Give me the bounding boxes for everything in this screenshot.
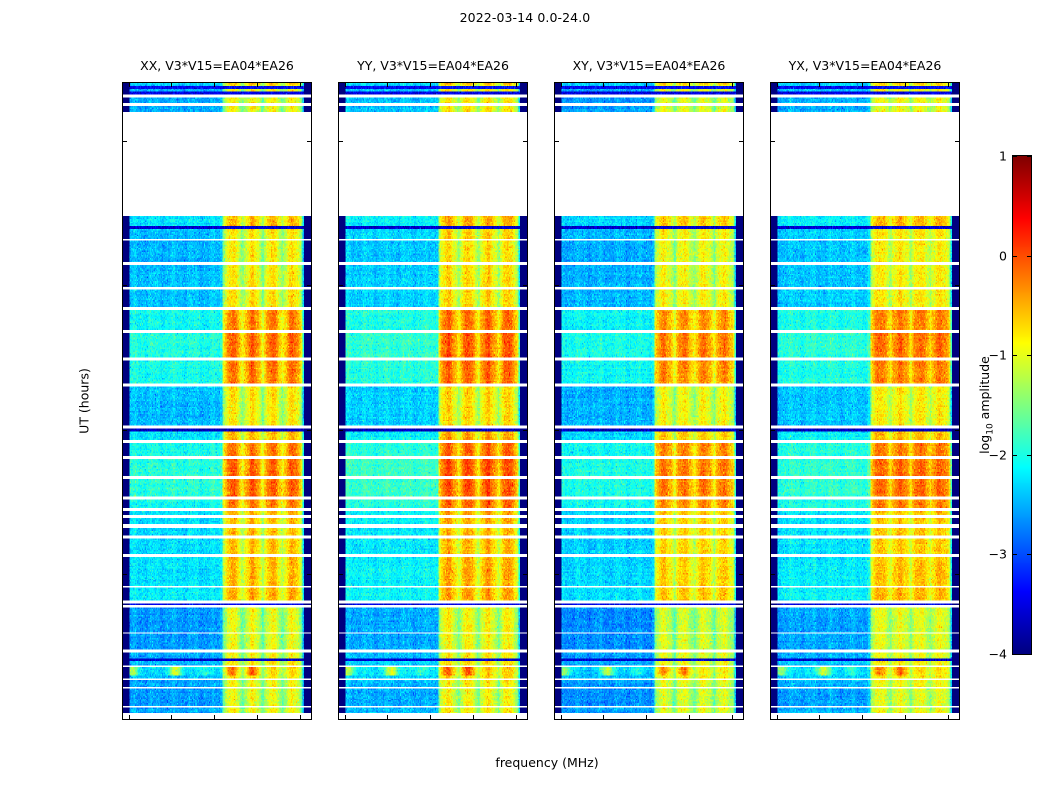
y-tick-mark [739,285,743,286]
y-tick-mark [955,285,959,286]
colorbar-label-subscript: 10 [985,423,995,434]
colorbar-tick-mark [1027,654,1031,655]
x-tick-mark [732,83,733,87]
y-tick-mark [955,141,959,142]
figure-suptitle: 2022-03-14 0.0-24.0 [0,10,1050,25]
y-tick-mark [555,719,559,720]
y-tick-mark [523,430,527,431]
colorbar-tick-label: 0 [999,248,1007,263]
y-tick-mark [339,719,343,720]
colorbar[interactable]: 10−1−2−3−4 [1012,155,1032,655]
x-tick-mark [300,715,301,719]
spectrogram-panel-yy[interactable]: YY, V3*V15=EA04*EA2605101520320335350365… [338,82,528,720]
y-tick-mark [307,719,311,720]
x-tick-mark [862,715,863,719]
x-tick-mark [473,715,474,719]
y-tick-mark [523,719,527,720]
x-tick-mark [561,715,562,719]
x-tick-mark [257,83,258,87]
y-axis-label: UT (hours) [77,368,92,434]
y-tick-mark [123,719,127,720]
x-tick-mark [473,83,474,87]
colorbar-tick-mark [1013,455,1017,456]
x-axis-label: frequency (MHz) [495,755,598,770]
spectrogram-panel-xx[interactable]: XX, V3*V15=EA04*EA2605101520320335350365… [122,82,312,720]
x-tick-mark [129,83,130,87]
y-tick-mark [739,430,743,431]
x-tick-mark [516,715,517,719]
y-tick-mark [123,574,127,575]
spectrogram-image-yx [771,83,959,719]
y-tick-mark [771,574,775,575]
x-tick-mark [387,83,388,87]
y-tick-mark [307,285,311,286]
x-tick-mark [345,715,346,719]
x-tick-mark [430,715,431,719]
colorbar-tick-mark [1027,455,1031,456]
x-tick-mark [561,83,562,87]
panel-title-xx: XX, V3*V15=EA04*EA26 [102,58,332,73]
y-tick-mark [739,719,743,720]
spectrogram-image-xx [123,83,311,719]
x-tick-mark [171,83,172,87]
panel-title-yy: YY, V3*V15=EA04*EA26 [318,58,548,73]
colorbar-tick-mark [1027,156,1031,157]
y-tick-mark [339,574,343,575]
colorbar-tick-mark [1013,654,1017,655]
panel-title-yx: YX, V3*V15=EA04*EA26 [750,58,980,73]
y-tick-mark [523,574,527,575]
spectrogram-panel-xy[interactable]: XY, V3*V15=EA04*EA2605101520320335350365… [554,82,744,720]
x-tick-mark [777,715,778,719]
y-tick-mark [555,285,559,286]
panel-axes-yx: 05101520320335350365380 [770,82,960,720]
y-tick-mark [771,141,775,142]
spectrogram-panel-yx[interactable]: YX, V3*V15=EA04*EA2605101520320335350365… [770,82,960,720]
y-tick-mark [123,141,127,142]
y-tick-mark [739,574,743,575]
y-tick-mark [307,430,311,431]
colorbar-tick-mark [1013,355,1017,356]
colorbar-tick-label: −4 [989,647,1007,662]
x-tick-mark [300,83,301,87]
y-tick-mark [771,430,775,431]
panel-axes-xx: 05101520320335350365380 [122,82,312,720]
colorbar-tick-mark [1013,256,1017,257]
y-tick-mark [523,141,527,142]
x-tick-mark [689,83,690,87]
colorbar-tick-mark [1013,156,1017,157]
panel-axes-xy: 05101520320335350365380 [554,82,744,720]
colorbar-tick-label: −3 [989,547,1007,562]
panel-axes-yy: 05101520320335350365380 [338,82,528,720]
x-tick-mark [646,715,647,719]
x-tick-mark [214,715,215,719]
y-tick-mark [339,285,343,286]
x-tick-mark [214,83,215,87]
figure-canvas: 2022-03-14 0.0-24.0 XX, V3*V15=EA04*EA26… [0,0,1050,800]
panel-title-xy: XY, V3*V15=EA04*EA26 [534,58,764,73]
x-tick-mark [603,715,604,719]
colorbar-label: log10 amplitude [977,356,996,454]
y-tick-mark [523,285,527,286]
y-tick-mark [555,574,559,575]
y-tick-mark [955,719,959,720]
x-tick-mark [862,83,863,87]
colorbar-label-main: amplitude [977,356,992,419]
y-tick-mark [555,430,559,431]
colorbar-tick-mark [1027,256,1031,257]
x-tick-mark [948,83,949,87]
y-tick-mark [123,285,127,286]
x-tick-mark [777,83,778,87]
x-tick-mark [171,715,172,719]
colorbar-label-prefix: log [977,435,992,454]
x-tick-mark [689,715,690,719]
x-tick-mark [819,83,820,87]
x-tick-mark [905,83,906,87]
y-tick-mark [339,141,343,142]
y-tick-mark [307,574,311,575]
y-tick-mark [339,430,343,431]
colorbar-tick-mark [1027,355,1031,356]
x-tick-mark [257,715,258,719]
colorbar-tick-mark [1013,554,1017,555]
x-tick-mark [430,83,431,87]
x-tick-mark [129,715,130,719]
x-tick-mark [819,715,820,719]
x-tick-mark [646,83,647,87]
y-tick-mark [123,430,127,431]
colorbar-tick-label: 1 [999,149,1007,164]
colorbar-tick-mark [1027,554,1031,555]
spectrogram-image-xy [555,83,743,719]
y-tick-mark [955,430,959,431]
x-tick-mark [603,83,604,87]
y-tick-mark [771,285,775,286]
y-tick-mark [307,141,311,142]
x-tick-mark [905,715,906,719]
x-tick-mark [387,715,388,719]
y-tick-mark [955,574,959,575]
x-tick-mark [948,715,949,719]
x-tick-mark [516,83,517,87]
y-tick-mark [555,141,559,142]
x-tick-mark [345,83,346,87]
y-tick-mark [771,719,775,720]
y-tick-mark [739,141,743,142]
x-tick-mark [732,715,733,719]
spectrogram-image-yy [339,83,527,719]
